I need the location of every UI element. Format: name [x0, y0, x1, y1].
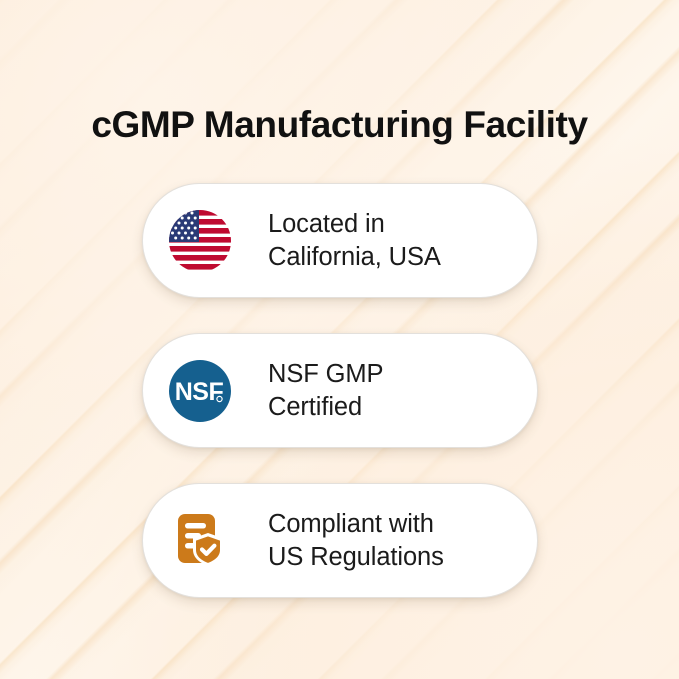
us-flag-circle-icon	[168, 209, 232, 273]
content-layer: cGMP Manufacturing Facility	[0, 0, 679, 679]
feature-card-located-in-california: Located in California, USA	[142, 183, 538, 298]
feature-card-label: Compliant with US Regulations	[268, 508, 444, 574]
feature-card-compliant-us-regulations: Compliant with US Regulations	[142, 483, 538, 598]
feature-card-label: NSF GMP Certified	[268, 358, 383, 424]
infographic-page: cGMP Manufacturing Facility	[0, 0, 679, 679]
nsf-logo-icon: NSF	[168, 359, 232, 423]
page-title: cGMP Manufacturing Facility	[0, 103, 679, 147]
feature-card-label: Located in California, USA	[268, 208, 441, 274]
document-shield-check-icon	[168, 509, 232, 573]
feature-card-nsf-gmp-certified: NSF NSF GMP Certified	[142, 333, 538, 448]
feature-card-list: Located in California, USA NSF NSF GMP C…	[142, 183, 538, 598]
svg-text:NSF: NSF	[175, 378, 224, 406]
